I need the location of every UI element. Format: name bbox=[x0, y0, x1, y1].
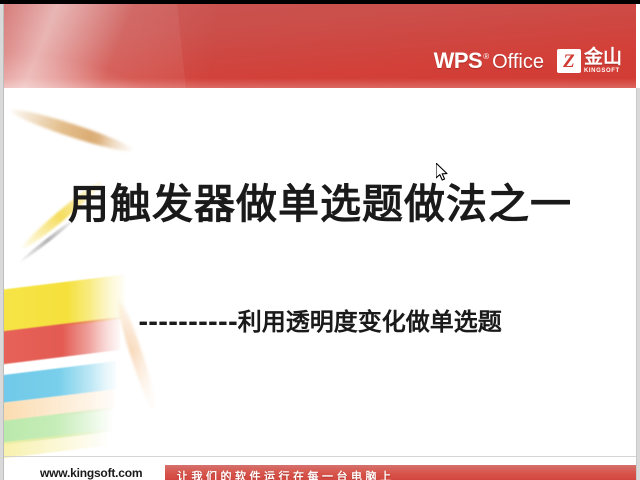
wps-office-logo: WPS ® Office bbox=[434, 50, 544, 72]
footer-slogan-text: 让我们的软件运行在每一台电脑上 bbox=[177, 468, 395, 480]
slide-title: 用触发器做单选题做法之一 bbox=[4, 180, 636, 228]
header-sheen-overlay bbox=[4, 4, 636, 88]
brand-lockup: WPS ® Office Z 金山 KINGSOFT bbox=[434, 48, 622, 74]
kingsoft-chinese-name: 金山 bbox=[584, 48, 622, 67]
wps-wordmark: WPS bbox=[434, 50, 483, 72]
registered-trademark-icon: ® bbox=[483, 53, 489, 61]
header-swoosh-decoration bbox=[4, 4, 195, 88]
ribbon-stripe-cyan bbox=[4, 361, 116, 405]
screen: WPS ® Office Z 金山 KINGSOFT bbox=[0, 0, 640, 480]
slide-header-band: WPS ® Office Z 金山 KINGSOFT bbox=[4, 4, 636, 88]
kingsoft-mark-glyph: Z bbox=[557, 49, 581, 73]
slide-ribbon-decoration bbox=[4, 88, 179, 480]
kingsoft-wordmark: 金山 KINGSOFT bbox=[584, 48, 622, 74]
header-base-glow bbox=[4, 78, 636, 88]
office-wordmark: Office bbox=[492, 52, 544, 72]
footer-slogan-bar: 让我们的软件运行在每一台电脑上 bbox=[165, 465, 636, 480]
ribbon-stripe-peach bbox=[4, 389, 114, 424]
kingsoft-mark-icon: Z bbox=[557, 49, 581, 73]
ribbon-fade-mask bbox=[90, 88, 179, 480]
footer-divider bbox=[4, 456, 636, 457]
kingsoft-logo: Z 金山 KINGSOFT bbox=[557, 48, 622, 74]
presentation-slide[interactable]: WPS ® Office Z 金山 KINGSOFT bbox=[4, 4, 636, 480]
footer-website-url[interactable]: www.kingsoft.com bbox=[40, 466, 142, 480]
header-glow-decoration bbox=[4, 34, 244, 88]
window-frame-right bbox=[636, 88, 640, 480]
ribbon-swoosh-tan bbox=[9, 105, 135, 157]
slide-subtitle: ----------利用透明度变化做单选题 bbox=[4, 302, 636, 337]
kingsoft-english-name: KINGSOFT bbox=[584, 68, 620, 74]
ribbon-stripe-green bbox=[4, 407, 112, 446]
